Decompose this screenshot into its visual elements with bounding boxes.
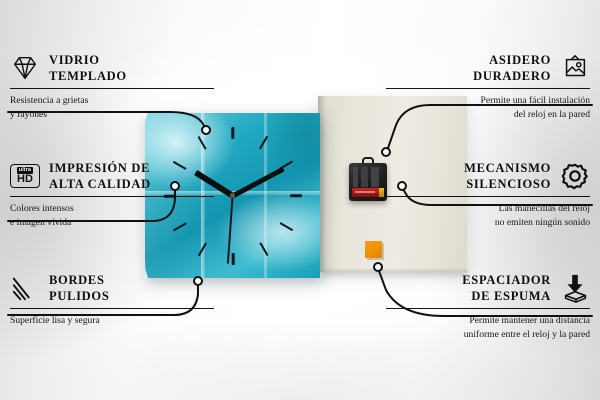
feature-divider — [386, 308, 590, 309]
feature-header: ASIDERO DURADERO — [386, 52, 590, 84]
feature-title: ASIDERO DURADERO — [473, 52, 551, 84]
feature-description-line2: e imagen vívida — [10, 216, 214, 229]
feature-description-line1: Permite mantener una distancia — [386, 314, 590, 327]
diamond-icon — [10, 53, 40, 83]
feature-divider — [386, 88, 590, 89]
picture-frame-hanger-icon — [560, 53, 590, 83]
feature-description-line2: y rayones — [10, 108, 214, 121]
feature-title: BORDES PULIDOS — [49, 272, 109, 304]
dot-espaciador — [374, 263, 382, 271]
feature-description-line2: uniforme entre el reloj y la pared — [386, 328, 590, 341]
feature-header: BORDES PULIDOS — [10, 272, 214, 304]
feature-header: ESPACIADOR DE ESPUMA — [386, 272, 590, 304]
feature-title: MECANISMO SILENCIOSO — [464, 160, 551, 192]
foam-spacer-arrow-icon — [560, 273, 590, 303]
feature-description-line1: Permite una fácil instalación — [386, 94, 590, 107]
feature-header: ultra HD IMPRESIÓN DE ALTA CALIDAD — [10, 160, 214, 192]
feature-divider — [10, 308, 214, 309]
dot-asidero — [382, 148, 390, 156]
feature-asidero-duradero: ASIDERO DURADERO Permite una fácil insta… — [386, 52, 590, 121]
feature-title: ESPACIADOR DE ESPUMA — [462, 272, 551, 304]
gear-icon — [560, 161, 590, 191]
feature-header: VIDRIO TEMPLADO — [10, 52, 214, 84]
feature-description-line1: Colores intensos — [10, 202, 214, 215]
feature-title: VIDRIO TEMPLADO — [49, 52, 127, 84]
feature-divider — [386, 196, 590, 197]
feature-title: IMPRESIÓN DE ALTA CALIDAD — [49, 160, 151, 192]
feature-description-line1: Superficie lisa y segura — [10, 314, 214, 327]
feature-description-line1: Resistencia a grietas — [10, 94, 214, 107]
ultra-hd-icon: ultra HD — [10, 164, 40, 188]
feature-vidrio-templado: VIDRIO TEMPLADO Resistencia a grietas y … — [10, 52, 214, 121]
feature-description-line1: Las manecillas del reloj — [386, 202, 590, 215]
feature-impresion-alta-calidad: ultra HD IMPRESIÓN DE ALTA CALIDAD Color… — [10, 160, 214, 229]
feature-divider — [10, 88, 214, 89]
feature-bordes-pulidos: BORDES PULIDOS Superficie lisa y segura — [10, 272, 214, 328]
dot-vidrio-templado — [202, 126, 210, 134]
feature-mecanismo-silencioso: MECANISMO SILENCIOSO Las manecillas del … — [386, 160, 590, 229]
infographic-canvas: VIDRIO TEMPLADO Resistencia a grietas y … — [0, 0, 600, 400]
feature-divider — [10, 196, 214, 197]
feature-header: MECANISMO SILENCIOSO — [386, 160, 590, 192]
feature-description-line2: no emiten ningún sonido — [386, 216, 590, 229]
feature-espaciador-de-espuma: ESPACIADOR DE ESPUMA Permite mantener un… — [386, 272, 590, 341]
ultra-hd-icon-main-label: HD — [17, 174, 33, 185]
feature-description-line2: del reloj en la pared — [386, 108, 590, 121]
polished-edges-icon — [10, 273, 40, 303]
